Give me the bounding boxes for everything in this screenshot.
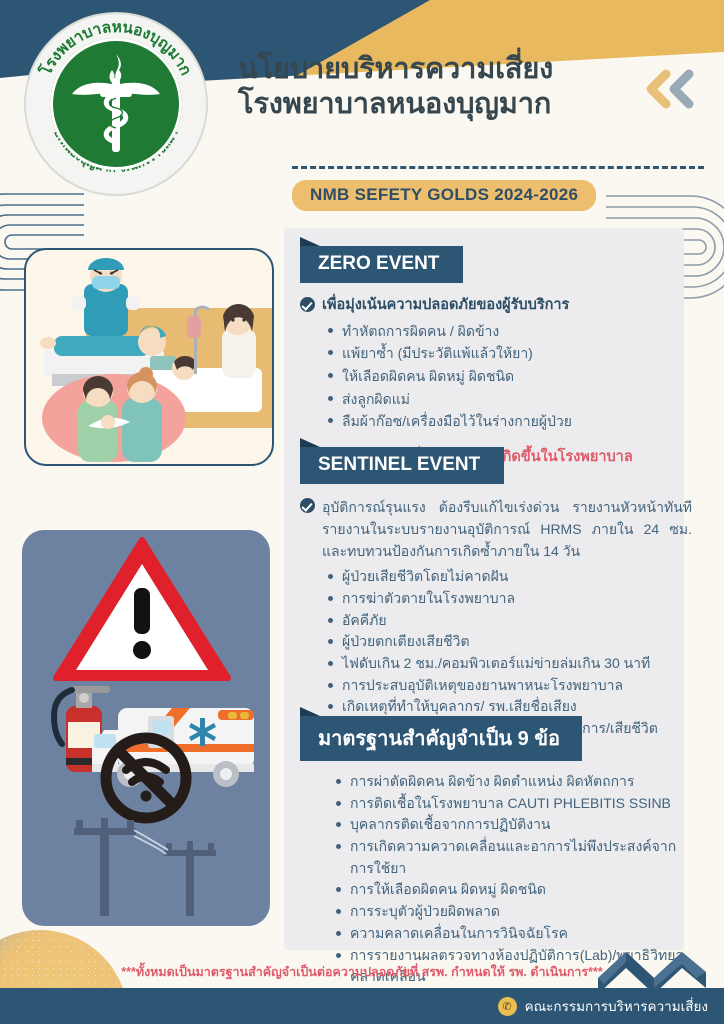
zero-event-list: ทำหัตถการผิดคน / ผิดข้าง แพ้ยาซ้ำ (มีประ… [326, 320, 692, 433]
nmb-badge: NMB SEFETY GOLDS 2024-2026 [292, 180, 596, 211]
list-item: การฆ่าตัวตายในโรงพยาบาล [326, 588, 692, 610]
hospital-logo: โรงพยาบาลหนองบุญมาก อ.หนองบุญมาก จ.นครรา… [26, 14, 206, 194]
list-item: ผู้ป่วยตกเตียงเสียชีวิต [326, 631, 692, 653]
list-item: ทำหัตถการผิดคน / ผิดข้าง [326, 320, 692, 343]
list-item: การระบุตัวผู้ป่วยผิดพลาด [334, 901, 692, 923]
list-item: ลืมผ้าก๊อซ/เครื่องมือไว้ในร่างกายผู้ป่วย [326, 410, 692, 433]
sentinel-event-lead: อุบัติการณ์รุนแรง ต้องรีบแก้ไขเร่งด่วน ร… [300, 496, 692, 562]
section-title-sentinel-event: SENTINEL EVENT [300, 447, 504, 484]
check-icon [300, 498, 315, 513]
list-item: การเกิดความควาดเคลื่อนและอาการไม่พึงประส… [334, 836, 692, 879]
list-item: เกิดเหตุที่ทำให้บุคลากร/ รพ.เสียชื่อเสีย… [326, 696, 692, 718]
list-item: ให้เลือดผิดคน ผิดหมู่ ผิดชนิด [326, 365, 692, 388]
medical-scene-illustration [24, 248, 274, 466]
list-item: แพ้ยาซ้ำ (มีประวัติแพ้แล้วให้ยา) [326, 342, 692, 365]
list-item: อัคคีภัย [326, 610, 692, 632]
list-item: การประสบอุบัติเหตุของยานพาหนะโรงพยาบาล [326, 675, 692, 697]
list-item: ไฟดับเกิน 2 ชม./คอมพิวเตอร์แม่ข่ายล่มเกิ… [326, 653, 692, 675]
footer-note: ***ทั้งหมดเป็นมาตรฐานสำคัญจำเป็นต่อความป… [0, 962, 724, 982]
power-pole-icon [74, 818, 216, 916]
check-icon [300, 297, 315, 312]
list-item: บุคลากรติดเชื้อจากการปฏิบัติงาน [334, 814, 692, 836]
list-item: การผ่าตัดผิดคน ผิดข้าง ผิดตำแหน่ง ผิดหัต… [334, 771, 692, 793]
section-zero-event: ZERO EVENT เพื่อมุ่งเน้นความปลอดภัยของผู… [300, 246, 692, 468]
caduceus-icon [68, 50, 164, 160]
safety-icons-card [22, 530, 270, 926]
sentinel-event-list: ผู้ป่วยเสียชีวิตโดยไม่คาดฝัน การฆ่าตัวตา… [326, 566, 692, 740]
list-item: การให้เลือดผิดคน ผิดหมู่ ผิดชนิด [334, 879, 692, 901]
page-title-line2: โรงพยาบาลหนองบุญมาก [238, 87, 708, 122]
infographic-page: โรงพยาบาลหนองบุญมาก อ.หนองบุญมาก จ.นครรา… [0, 0, 724, 1024]
footer-bar: ✆ คณะกรรมการบริหารความเสี่ยง [0, 988, 724, 1024]
section-sentinel-event: SENTINEL EVENT อุบัติการณ์รุนแรง ต้องรีบ… [300, 447, 692, 740]
footer-committee: คณะกรรมการบริหารความเสี่ยง [525, 995, 708, 1017]
zero-event-lead: เพื่อมุ่งเน้นความปลอดภัยของผู้รับบริการ [300, 295, 692, 316]
sentinel-event-lead-text: อุบัติการณ์รุนแรง ต้องรีบแก้ไขเร่งด่วน ร… [322, 496, 692, 562]
title-block: นโยบายบริหารความเสี่ยง โรงพยาบาลหนองบุญม… [238, 52, 708, 123]
page-title-line1: นโยบายบริหารความเสี่ยง [238, 52, 708, 87]
list-item: ส่งลูกผิดแม่ [326, 388, 692, 411]
phone-icon: ✆ [498, 997, 517, 1016]
double-chevron-left-icon [642, 68, 696, 110]
zero-event-lead-text: เพื่อมุ่งเน้นความปลอดภัยของผู้รับบริการ [322, 295, 569, 316]
warning-triangle-icon [56, 540, 228, 678]
section-title-zero-event: ZERO EVENT [300, 246, 463, 283]
list-item: ผู้ป่วยเสียชีวิตโดยไม่คาดฝัน [326, 566, 692, 588]
section-title-essential-standards: มาตรฐานสำคัญจำเป็น 9 ข้อ [300, 716, 582, 761]
title-divider [292, 166, 704, 169]
list-item: การติดเชื้อในโรงพยาบาล CAUTI PHLEBITIS S… [334, 793, 692, 815]
